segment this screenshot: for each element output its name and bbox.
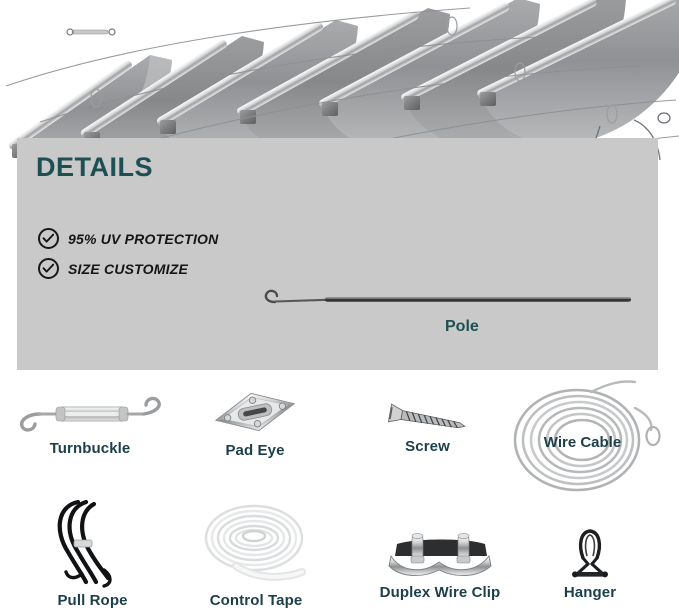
accessory-label: Pull Rope [20,592,165,609]
accessory-wire-cable: Wire Cable [495,378,670,496]
accessory-hanger: Hanger [520,528,660,601]
wire-cable-icon: Wire Cable [495,378,670,496]
accessory-label: Wire Cable [495,434,670,451]
page-title: DETAILS [36,152,153,183]
screw-icon [360,392,495,434]
accessory-duplex-wire-clip: Duplex Wire Clip [355,528,525,601]
turnbuckle-icon [10,392,170,436]
hanger-icon [520,528,660,580]
accessory-label: Screw [360,438,495,455]
accessory-label: Turnbuckle [10,440,170,457]
accessory-label: Hanger [520,584,660,601]
check-circle-icon [38,258,59,279]
accessory-label: Duplex Wire Clip [355,584,525,601]
product-detail-page: DETAILS 95% UV PROTECTION SIZE CUSTOMIZE [0,0,679,611]
accessory-label: Control Tape [180,592,332,609]
duplex-wire-clip-icon [355,528,525,580]
top-left-hardware [67,29,115,35]
feature-label: SIZE CUSTOMIZE [68,261,188,277]
accessory-screw: Screw [360,392,495,455]
accessory-control-tape: Control Tape [180,500,332,609]
feature-item: 95% UV PROTECTION [38,228,218,249]
feature-item: SIZE CUSTOMIZE [38,258,188,279]
accessory-pad-eye: Pad Eye [180,388,330,459]
feature-label: 95% UV PROTECTION [68,231,218,247]
accessory-label: Pad Eye [180,442,330,459]
pad-eye-icon [180,388,330,438]
pole-label: Pole [445,318,479,336]
accessory-turnbuckle: Turnbuckle [10,392,170,457]
pole-figure: Pole [255,288,635,350]
control-tape-icon [180,500,332,588]
pole-icon [255,288,635,318]
check-circle-icon [38,228,59,249]
accessory-pull-rope: Pull Rope [20,496,165,609]
pull-rope-icon [20,496,165,588]
